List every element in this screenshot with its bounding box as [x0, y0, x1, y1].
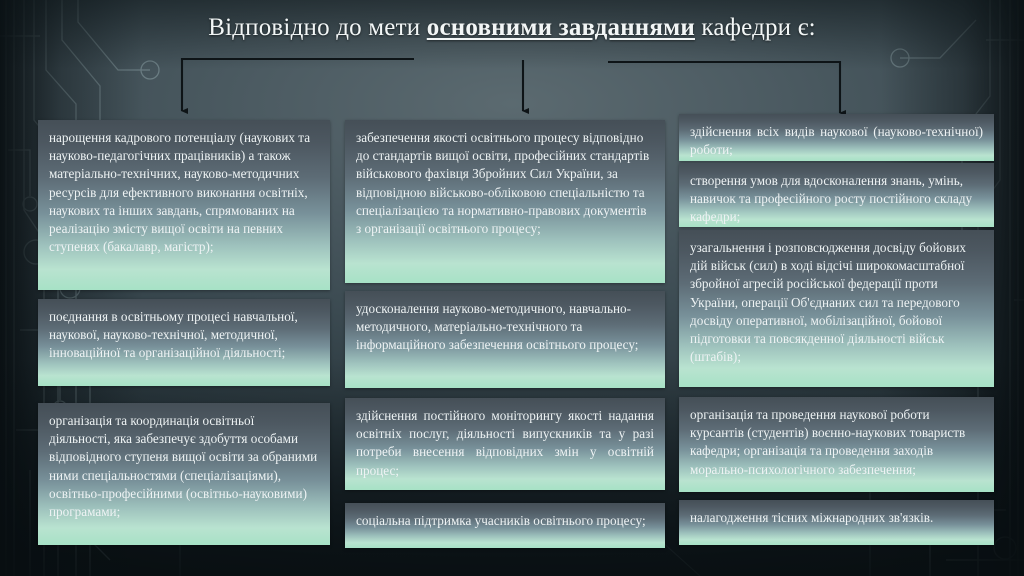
- task-box-3-4[interactable]: організація та проведення наукової робот…: [679, 397, 994, 492]
- left-elbow-arrow: [182, 59, 414, 111]
- task-text: поєднання в освітньому процесі навчально…: [49, 308, 319, 363]
- task-box-1-1[interactable]: нарощення кадрового потенціалу (наукових…: [38, 120, 330, 290]
- task-box-3-1[interactable]: здійснення всіх видів наукової (науково-…: [679, 114, 994, 161]
- task-box-2-3[interactable]: здійснення постійного моніторингу якості…: [345, 398, 665, 490]
- right-elbow-arrow: [608, 62, 840, 113]
- task-box-1-2[interactable]: поєднання в освітньому процесі навчально…: [38, 299, 330, 386]
- connector-arrows: [0, 0, 1024, 130]
- task-box-2-2[interactable]: удосконалення науково-методичного, навча…: [345, 291, 665, 388]
- task-box-2-4[interactable]: соціальна підтримка учасників освітнього…: [345, 503, 665, 548]
- task-text: організація та проведення наукової робот…: [690, 406, 983, 479]
- task-box-2-1[interactable]: забезпечення якості освітнього процесу в…: [345, 120, 665, 283]
- task-text: створення умов для вдосконалення знань, …: [690, 172, 983, 227]
- task-text: соціальна підтримка учасників освітнього…: [356, 512, 654, 530]
- task-text: здійснення постійного моніторингу якості…: [356, 407, 654, 480]
- task-box-3-3[interactable]: узагальнення і розповсюдження досвіду бо…: [679, 230, 994, 387]
- task-text: удосконалення науково-методичного, навча…: [356, 300, 654, 355]
- slide: Відповідно до мети основними завданнями …: [0, 0, 1024, 576]
- task-text: здійснення всіх видів наукової (науково-…: [690, 123, 983, 159]
- task-text: узагальнення і розповсюдження досвіду бо…: [690, 239, 983, 367]
- task-box-1-3[interactable]: організація та координація освітньої дія…: [38, 403, 330, 545]
- task-box-3-2[interactable]: створення умов для вдосконалення знань, …: [679, 163, 994, 227]
- task-text: налагодження тісних міжнародних зв'язків…: [690, 509, 983, 527]
- task-text: організація та координація освітньої дія…: [49, 412, 319, 521]
- task-text: нарощення кадрового потенціалу (наукових…: [49, 129, 319, 257]
- task-text: забезпечення якості освітнього процесу в…: [356, 129, 654, 238]
- task-box-3-5[interactable]: налагодження тісних міжнародних зв'язків…: [679, 500, 994, 545]
